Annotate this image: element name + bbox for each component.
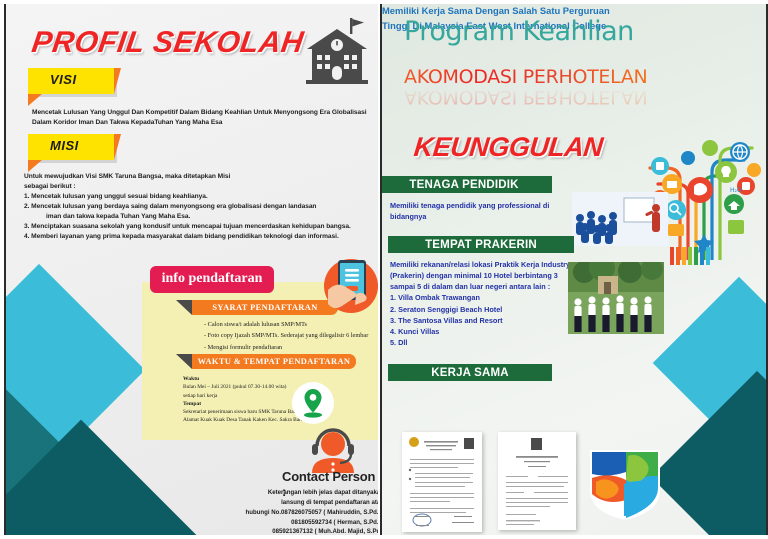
tempat-line-2: Alamat Kuak Kuak Desa Tanak Kaken Kec. S… [183, 416, 363, 424]
certificate-1-content [402, 432, 482, 532]
misi-item-1: 1. Mencetak lulusan yang unggul sesuai b… [24, 192, 376, 202]
syarat-item-2: - Foto copy Ijazah SMP/MTs. Sederajat ya… [204, 330, 378, 341]
hand-holding-tablet-illustration [318, 256, 378, 318]
left-panel: PROFIL SEKOLAH VISI Mencetak Lulusan Yan… [4, 4, 378, 535]
header-kerja-label: KERJA SAMA [388, 367, 552, 379]
tag-misi-nub [114, 134, 121, 160]
misi-item-2: 2. Mencetak lulusan yang berdaya saing d… [24, 202, 376, 212]
svg-text:H₂O: H₂O [730, 187, 742, 194]
rainbow-bars-decor [670, 247, 710, 265]
misi-item-3: 3. Menciptakan suasana sekolah yang kond… [24, 222, 376, 232]
header-tenaga-pendidik: TENAGA PENDIDIK [380, 176, 552, 193]
waktu-line-2: setiap hari kerja [183, 392, 363, 400]
school-building-icon [298, 16, 376, 88]
program-subtitle-reflection: AKOMODASI PERHOTELAN [404, 86, 647, 108]
header-syarat-label: SYARAT PENDAFTARAN [192, 303, 338, 312]
contact-phone-3: 085921367132 ( Muh.Abd. Majid, S.Pd ) [228, 527, 378, 535]
info-pendaftaran-label: info pendaftaran [150, 271, 274, 287]
prakerin-item-2: 2. Seraton Senggigi Beach Hotel [390, 304, 576, 315]
header-kerja-sama: KERJA SAMA [388, 364, 552, 381]
header-tempat-prakerin: TEMPAT PRAKERIN [388, 236, 574, 253]
contact-line-2: lansung di tempat pendaftaran atau [228, 498, 378, 508]
misi-intro-1: Untuk mewujudkan Visi SMK Taruna Bangsa,… [24, 172, 376, 182]
waktu-line-1: Bulan Mei – Juli 2021 (pukul 07.30-14.00… [183, 383, 363, 391]
prakerin-intro: Memiliki rekanan/relasi lokasi Praktik K… [390, 259, 576, 292]
info-pendaftaran-badge: info pendaftaran [150, 266, 274, 293]
students-group-photo [568, 262, 664, 334]
tempat-line-1: Sekretariat penerimaan siswa baru SMK Ta… [183, 408, 363, 416]
keunggulan-heading: KEUNGGULAN [412, 132, 604, 163]
waktu-label: Waktu [183, 376, 199, 382]
program-keahlian-subtitle: AKOMODASI PERHOTELAN [404, 66, 647, 88]
tag-misi: MISI [28, 134, 114, 160]
visi-body-text: Mencetak Lulusan Yang Unggul Dan Kompeti… [32, 108, 372, 128]
prakerin-item-4: 4. Kunci Villas [390, 326, 576, 337]
misi-item-4: 4. Memberi layanan yang prima kepada mas… [24, 232, 376, 242]
page-title-profil-sekolah: PROFIL SEKOLAH [30, 26, 306, 60]
prakerin-item-3: 3. The Santosa Villas and Resort [390, 315, 576, 326]
contact-person-details: Keterangan lebih jelas dapat ditanyakan … [228, 488, 378, 535]
prakerin-item-1: 1. Villa Ombak Trawangan [390, 292, 576, 303]
syarat-item-3: - Mengisi formulir pendaftaran [204, 342, 378, 353]
header-prakerin-label: TEMPAT PRAKERIN [388, 239, 574, 251]
right-panel: Program Keahlian AKOMODASI PERHOTELAN AK… [380, 4, 768, 535]
arrow-left-icon [176, 354, 192, 369]
misi-body-block: Untuk mewujudkan Visi SMK Taruna Bangsa,… [24, 172, 376, 242]
header-syarat-pendaftaran: SYARAT PENDAFTARAN [192, 300, 338, 315]
header-waktu-tempat: WAKTU & TEMPAT PENDAFTARAN [192, 354, 356, 369]
certificate-document-1 [402, 432, 482, 532]
waktu-tempat-details: Waktu Bulan Mei – Juli 2021 (pukul 07.30… [183, 375, 363, 424]
misi-item-2-cont: iman dan takwa kepada Tuhan Yang Maha Es… [24, 212, 376, 222]
misi-intro-2: sebagai berikut : [24, 182, 376, 192]
tempat-prakerin-body: Memiliki rekanan/relasi lokasi Praktik K… [390, 259, 576, 348]
contact-line-1: Keterangan lebih jelas dapat ditanyakan [228, 488, 378, 498]
tag-visi-label: VISI [50, 72, 77, 87]
arrow-left-icon [176, 300, 192, 315]
prakerin-item-5: 5. Dll [390, 337, 576, 348]
partnership-hands-logo [588, 444, 662, 520]
location-pin-circle [292, 382, 334, 424]
header-tenaga-label: TENAGA PENDIDIK [380, 179, 552, 191]
tag-visi: VISI [28, 68, 114, 94]
tempat-label: Tempat [183, 401, 201, 407]
program-keahlian-title: Program Keahlian [404, 16, 634, 47]
tag-visi-nub [114, 68, 121, 94]
certificate-2-content [498, 432, 576, 530]
brochure-page: PROFIL SEKOLAH VISI Mencetak Lulusan Yan… [0, 0, 768, 539]
tenaga-pendidik-body: Memiliki tenaga pendidik yang profession… [390, 200, 580, 222]
contact-phone-2: 081805592734 ( Herman, S.Pd.I ) [228, 518, 378, 528]
certificate-document-2 [498, 432, 576, 530]
classroom-training-photo [572, 192, 668, 246]
contact-line-3: hubungi No.087826075057 ( Mahiruddin, S.… [228, 508, 378, 518]
syarat-item-1: - Calon siswa/i adalah lulusan SMP/MTs [204, 319, 378, 330]
header-waktu-label: WAKTU & TEMPAT PENDAFTARAN [192, 357, 356, 366]
tag-misi-label: MISI [50, 138, 79, 153]
location-pin-icon [292, 382, 334, 424]
